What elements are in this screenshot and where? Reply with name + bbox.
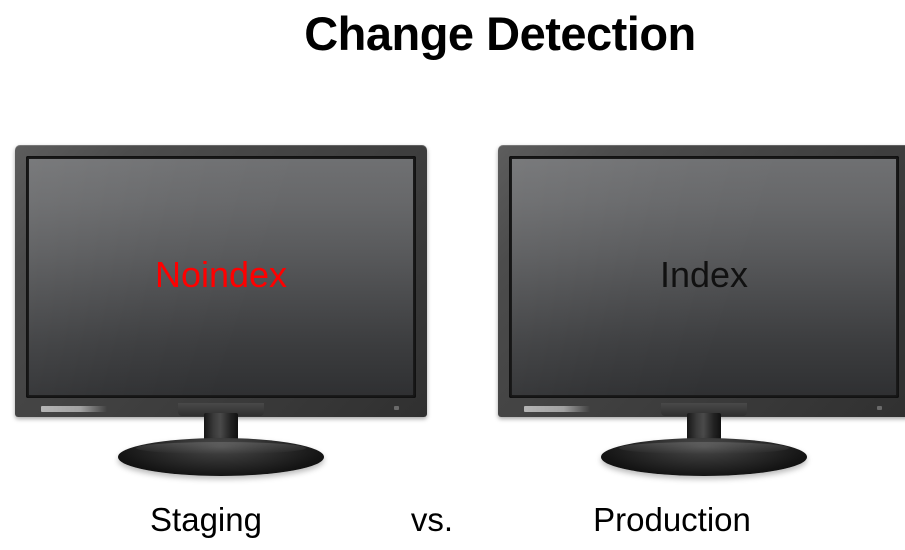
monitor-stand-base-staging xyxy=(118,438,324,476)
caption-staging: Staging xyxy=(106,500,306,540)
caption-production: Production xyxy=(572,500,772,540)
caption-versus: vs. xyxy=(382,500,482,540)
page-title: Change Detection xyxy=(0,8,905,60)
monitor-brand-logo-staging xyxy=(41,406,107,412)
monitor-bezel-production: Index xyxy=(498,145,905,417)
monitor-stand-base-production xyxy=(601,438,807,476)
power-led-icon-production xyxy=(877,406,882,410)
power-led-icon-staging xyxy=(394,406,399,410)
monitor-screen-staging[interactable]: Noindex xyxy=(29,159,413,395)
monitor-brand-logo-production xyxy=(524,406,590,412)
monitor-screen-production[interactable]: Index xyxy=(512,159,896,395)
slide-canvas: Change Detection Noindex Index xyxy=(0,0,905,550)
screen-label-noindex: Noindex xyxy=(29,257,413,293)
monitor-bezel-staging: Noindex xyxy=(15,145,427,417)
screen-label-index: Index xyxy=(512,257,896,293)
monitor-production: Index xyxy=(498,145,905,475)
monitor-staging: Noindex xyxy=(15,145,427,475)
